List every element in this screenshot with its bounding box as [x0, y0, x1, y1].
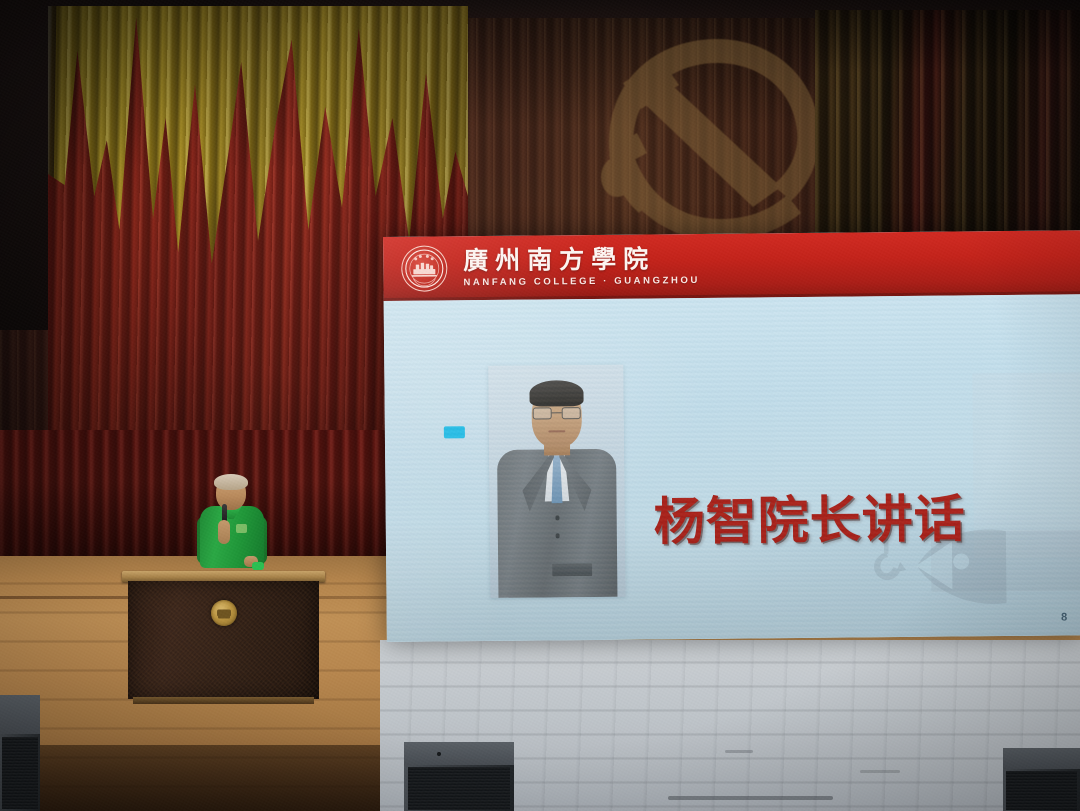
- hammer-and-sickle-icon: [575, 25, 835, 240]
- glasses-icon: [532, 407, 580, 419]
- glasses-lens-right: [561, 407, 580, 419]
- slide-content-area: 杨智院长讲话 8: [384, 294, 1080, 642]
- monitor-top-face: [1003, 748, 1080, 769]
- monitor-indicator-dot: [437, 752, 441, 756]
- apron-scuff-mark: [860, 770, 900, 773]
- monitor-speaker-grill: [408, 767, 509, 810]
- speaker-left-hand: [218, 520, 230, 544]
- stage-curtain-right: [815, 10, 1080, 260]
- monitor-speaker-grill: [2, 737, 39, 809]
- speaker-person: [196, 476, 268, 576]
- portrait-hair: [529, 380, 583, 407]
- podium-texture: [128, 581, 319, 699]
- slide-header-band: 廣州南方學院 NANFANG COLLEGE · GUANGZHOU: [383, 230, 1080, 301]
- university-chinese-name: 廣州南方學院: [463, 246, 700, 275]
- speaker-hair: [214, 474, 248, 490]
- portrait-photo: [488, 365, 625, 598]
- apron-scuff-mark: [725, 750, 753, 753]
- glasses-bridge: [551, 412, 561, 413]
- desk-green-object: [252, 562, 264, 570]
- speaker-chest-badge: [236, 524, 247, 533]
- slide-page-number: 8: [1061, 611, 1068, 623]
- curtain-right-shading: [815, 10, 1080, 260]
- projection-screen[interactable]: 廣州南方學院 NANFANG COLLEGE · GUANGZHOU: [383, 230, 1080, 642]
- monitor-top-face: [0, 695, 40, 734]
- stage-monitor-left: [0, 695, 40, 811]
- monitor-speaker-grill: [1006, 771, 1077, 810]
- slide-headline: 杨智院长讲话: [653, 477, 966, 554]
- cyan-accent-dash: [444, 426, 465, 438]
- university-seal-icon: [401, 245, 447, 291]
- stage-monitor-center: [404, 742, 514, 811]
- glasses-lens-left: [532, 407, 551, 419]
- podium-gold-emblem-icon: [211, 600, 237, 626]
- auditorium-presentation-photo: 廣州南方學院 NANFANG COLLEGE · GUANGZHOU: [0, 0, 1080, 811]
- slide-header-text: 廣州南方學院 NANFANG COLLEGE · GUANGZHOU: [463, 246, 700, 288]
- university-english-name: NANFANG COLLEGE · GUANGZHOU: [463, 275, 700, 288]
- stage-monitor-right: [1003, 748, 1080, 811]
- portrait-jacket-pocket: [552, 563, 592, 576]
- podium-base-trim: [133, 697, 314, 704]
- lectern-podium: [125, 571, 322, 706]
- monitor-top-face: [404, 742, 514, 765]
- apron-scuff-mark: [668, 796, 833, 800]
- floor-front-shadow: [0, 745, 420, 811]
- portrait-jacket-button: [555, 515, 560, 520]
- portrait-jacket-button: [555, 533, 560, 538]
